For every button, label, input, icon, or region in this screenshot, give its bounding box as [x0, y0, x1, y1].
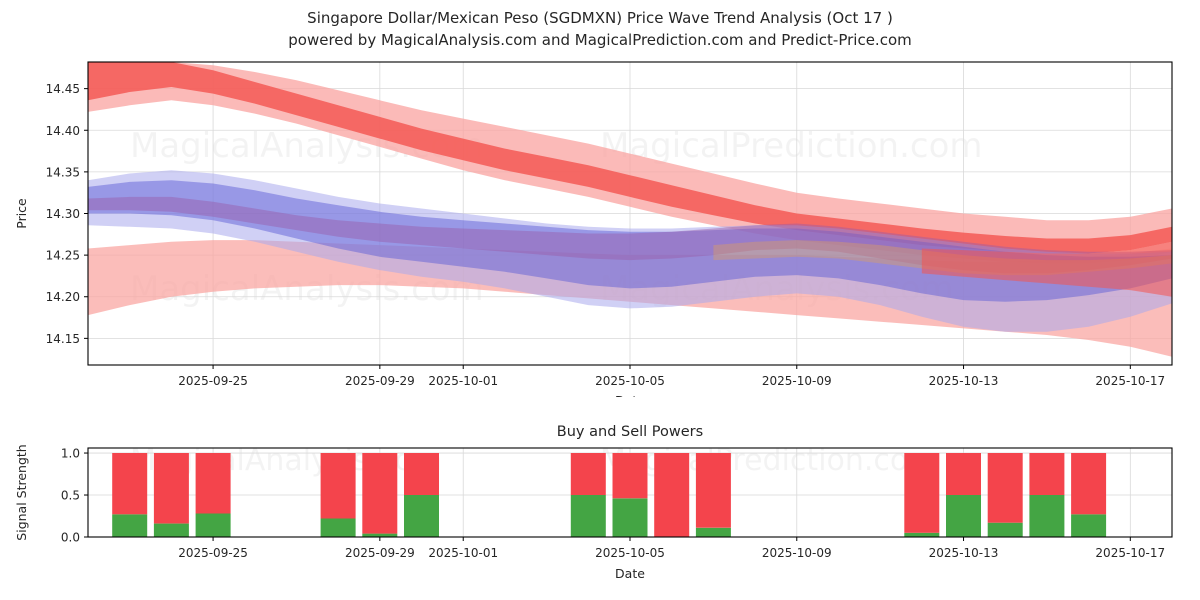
y-tick-label: 0.5	[61, 489, 80, 503]
buy-power-bar	[946, 495, 981, 537]
y-tick-label: 14.35	[46, 165, 80, 179]
y-tick-label: 14.30	[46, 207, 80, 221]
y-tick-label: 14.40	[46, 124, 80, 138]
x-tick-label: 2025-10-17	[1095, 374, 1165, 388]
sell-power-bar	[946, 453, 981, 495]
y-tick-label: 14.20	[46, 290, 80, 304]
buy-power-bar	[1071, 514, 1106, 537]
buy-power-bar	[988, 523, 1023, 537]
x-tick-label: 2025-10-09	[762, 374, 832, 388]
x-tick-label: 2025-10-05	[595, 546, 665, 560]
x-tick-label: 2025-09-29	[345, 546, 415, 560]
buy-sell-powers-chart: Buy and Sell PowersMagicalAnalysis.comMa…	[0, 418, 1200, 598]
x-axis-label: Date	[615, 393, 645, 397]
sell-power-bar	[362, 453, 397, 534]
x-tick-label: 2025-09-25	[178, 546, 248, 560]
y-tick-label: 14.25	[46, 249, 80, 263]
x-tick-label: 2025-10-09	[762, 546, 832, 560]
sell-power-bar	[613, 453, 648, 498]
x-tick-label: 2025-09-25	[178, 374, 248, 388]
y-axis-label: Signal Strength	[14, 444, 29, 540]
price-wave-chart: MagicalAnalysis.comMagicalPrediction.com…	[0, 52, 1200, 397]
sell-power-bar	[654, 453, 689, 537]
sell-power-bar	[1071, 453, 1106, 514]
y-axis-label: Price	[14, 198, 29, 229]
sell-power-bar	[696, 453, 731, 528]
page-title: Singapore Dollar/Mexican Peso (SGDMXN) P…	[0, 8, 1200, 30]
sell-power-bar	[196, 453, 231, 514]
x-tick-label: 2025-10-13	[929, 374, 999, 388]
x-tick-label: 2025-10-17	[1095, 546, 1165, 560]
sell-power-bar	[321, 453, 356, 519]
sell-power-bar	[404, 453, 439, 495]
buy-power-bar	[1029, 495, 1064, 537]
sell-power-bar	[154, 453, 189, 524]
y-tick-label: 1.0	[61, 447, 80, 461]
x-tick-label: 2025-10-05	[595, 374, 665, 388]
buy-sell-powers-title: Buy and Sell Powers	[557, 424, 703, 440]
x-axis-label: Date	[615, 566, 645, 581]
x-tick-label: 2025-09-29	[345, 374, 415, 388]
buy-power-bar	[696, 528, 731, 537]
title-block: Singapore Dollar/Mexican Peso (SGDMXN) P…	[0, 8, 1200, 52]
buy-power-bar	[613, 498, 648, 537]
buy-power-bar	[904, 533, 939, 537]
buy-power-bar	[154, 524, 189, 537]
buy-power-bar	[404, 495, 439, 537]
sell-power-bar	[904, 453, 939, 533]
y-tick-label: 0.0	[61, 531, 80, 545]
buy-power-bar	[196, 514, 231, 538]
buy-power-bar	[112, 514, 147, 537]
x-tick-label: 2025-10-01	[428, 546, 498, 560]
sell-power-bar	[988, 453, 1023, 523]
buy-power-bar	[321, 519, 356, 538]
sell-power-bar	[571, 453, 606, 495]
sell-power-bar	[1029, 453, 1064, 495]
watermark-text: MagicalPrediction.com	[600, 126, 983, 166]
sell-power-bar	[112, 453, 147, 514]
chart-page: Singapore Dollar/Mexican Peso (SGDMXN) P…	[0, 0, 1200, 600]
y-tick-label: 14.15	[46, 332, 80, 346]
x-tick-label: 2025-10-13	[929, 546, 999, 560]
page-subtitle: powered by MagicalAnalysis.com and Magic…	[0, 30, 1200, 52]
x-tick-label: 2025-10-01	[428, 374, 498, 388]
buy-power-bar	[571, 495, 606, 537]
y-tick-label: 14.45	[46, 82, 80, 96]
